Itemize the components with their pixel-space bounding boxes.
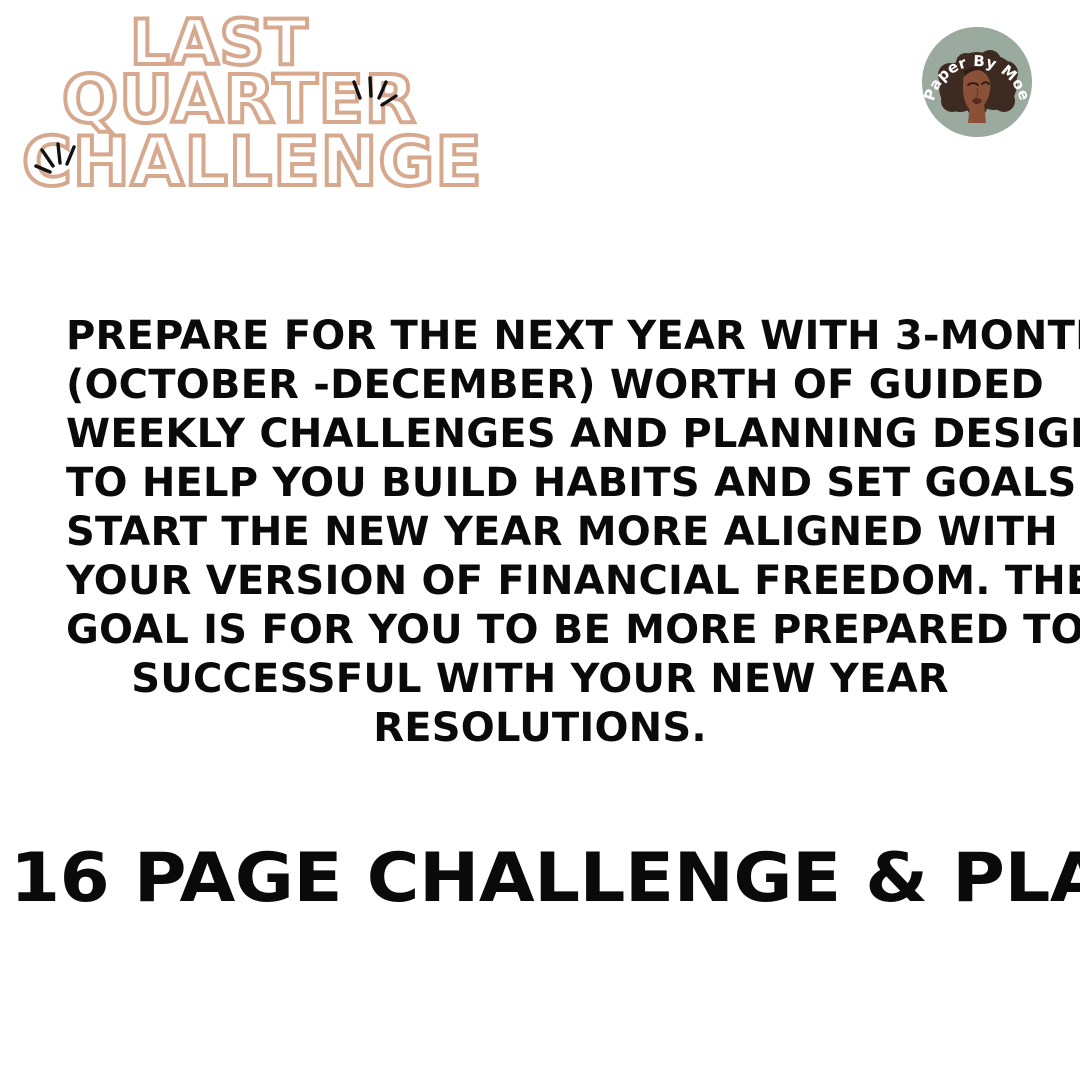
description-line: PREPARE FOR THE NEXT YEAR WITH 3-MONTHS (66, 312, 1014, 361)
description-line: SUCCESSFUL WITH YOUR NEW YEAR (66, 655, 1014, 704)
promo-canvas: LAST QUARTER CHALLENGE (0, 0, 1080, 1080)
description-line: GOAL IS FOR YOU TO BE MORE PREPARED TO B… (66, 606, 1014, 655)
description-line: YOUR VERSION OF FINANCIAL FREEDOM. THE (66, 557, 1014, 606)
product-headline: 16 PAGE CHALLENGE & PLANNER (10, 840, 1070, 918)
hero-title-line-3: CHALLENGE (22, 132, 483, 195)
description-line: START THE NEW YEAR MORE ALIGNED WITH (66, 508, 1014, 557)
hero-title-line-2: QUARTER (62, 70, 417, 131)
description-line: TO HELP YOU BUILD HABITS AND SET GOALS T… (66, 459, 1014, 508)
hero-title: LAST QUARTER CHALLENGE (10, 14, 450, 229)
description-line: WEEKLY CHALLENGES AND PLANNING DESIGNED (66, 410, 1014, 459)
description-line: (OCTOBER -DECEMBER) WORTH OF GUIDED (66, 361, 1014, 410)
brand-logo[interactable]: Paper By Moe Paper By Moe (922, 27, 1032, 137)
description-block: PREPARE FOR THE NEXT YEAR WITH 3-MONTHS … (66, 312, 1014, 753)
description-line: RESOLUTIONS. (66, 704, 1014, 753)
